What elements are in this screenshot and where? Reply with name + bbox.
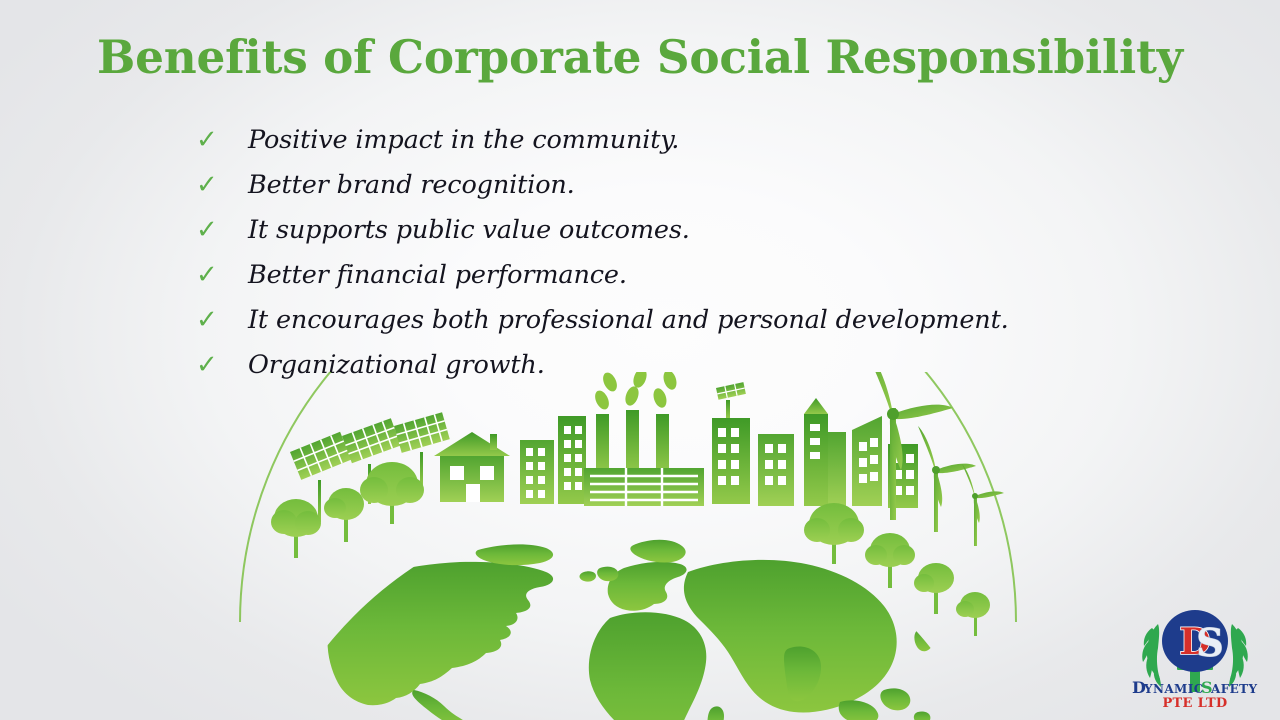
list-item: ✓ It supports public value outcomes. [196,215,1176,260]
list-item: ✓ It encourages both professional and pe… [196,305,1176,350]
logo-monogram: D S [1179,620,1223,665]
svg-text:S: S [1196,620,1223,665]
list-item-label: Better brand recognition. [248,170,575,200]
list-item-label: It supports public value outcomes. [248,215,690,245]
check-icon: ✓ [196,125,248,155]
check-icon: ✓ [196,260,248,290]
list-item-label: Organizational growth. [248,350,545,380]
laurel-right [1229,624,1248,687]
eco-globe-illustration [228,372,1028,720]
svg-text:AFETY: AFETY [1210,682,1258,696]
company-logo: D S D YNAMIC S AFETY PTE LTD [1122,594,1268,712]
benefits-list: ✓ Positive impact in the community. ✓ Be… [196,125,1176,395]
list-item: ✓ Better brand recognition. [196,170,1176,215]
list-item: ✓ Positive impact in the community. [196,125,1176,170]
slide-canvas: Benefits of Corporate Social Responsibil… [0,0,1280,720]
list-item-label: Better financial performance. [248,260,627,290]
check-icon: ✓ [196,350,248,380]
list-item: ✓ Better financial performance. [196,260,1176,305]
page-title: Benefits of Corporate Social Responsibil… [10,34,1271,80]
check-icon: ✓ [196,215,248,245]
svg-text:YNAMIC: YNAMIC [1143,682,1204,696]
list-item-label: Positive impact in the community. [248,125,679,155]
check-icon: ✓ [196,305,248,335]
list-item: ✓ Organizational growth. [196,350,1176,395]
svg-text:PTE LTD: PTE LTD [1162,696,1227,711]
logo-wordmark: D YNAMIC S AFETY PTE LTD [1132,678,1258,711]
list-item-label: It encourages both professional and pers… [248,305,1009,335]
check-icon: ✓ [196,170,248,200]
